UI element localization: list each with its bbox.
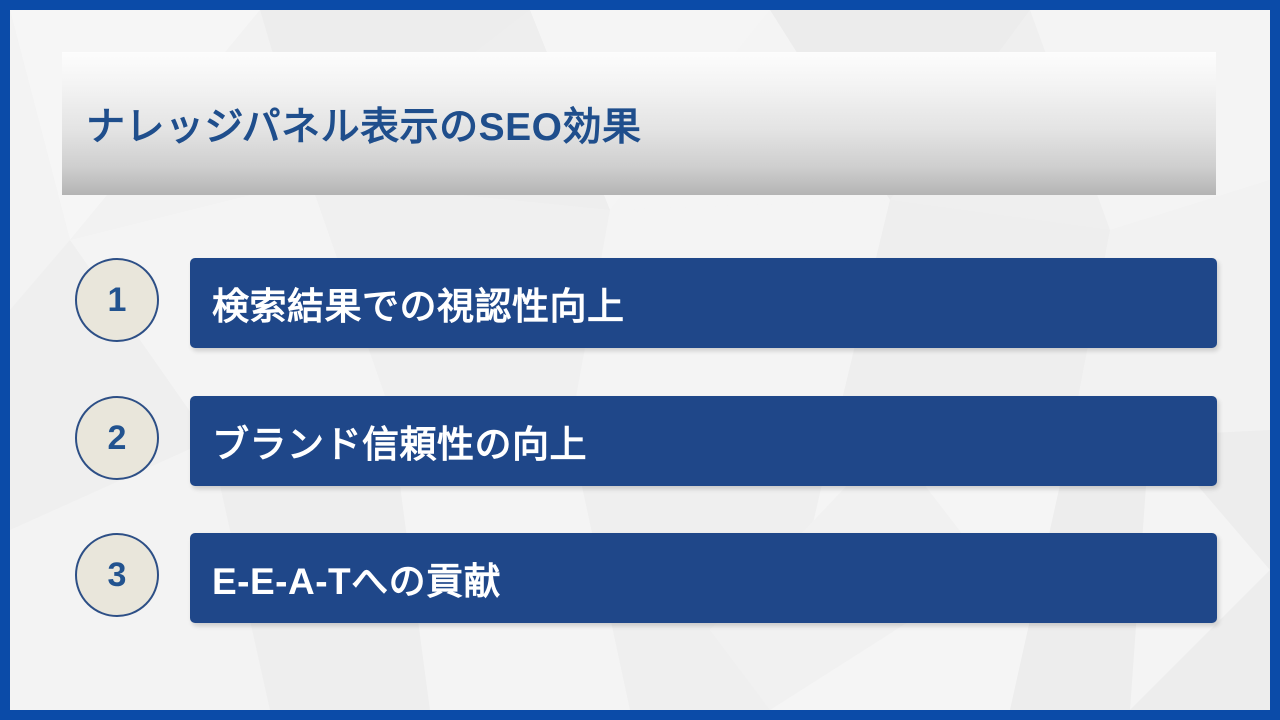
- item-bar-label: 検索結果での視認性向上: [190, 276, 625, 330]
- item-number-badge: 2: [75, 396, 159, 480]
- item-bar-label: ブランド信頼性の向上: [190, 414, 587, 468]
- item-number-badge: 3: [75, 533, 159, 617]
- list-item: 2 ブランド信頼性の向上: [10, 396, 1270, 488]
- list-item: 1 検索結果での視認性向上: [10, 258, 1270, 350]
- page-title: ナレッジパネル表示のSEO効果: [86, 96, 642, 152]
- item-number-badge: 1: [75, 258, 159, 342]
- item-number-label: 1: [108, 283, 127, 317]
- slide-inner-area: ナレッジパネル表示のSEO効果 1 検索結果での視認性向上 2 ブランド信頼性の…: [10, 10, 1270, 710]
- item-number-label: 3: [108, 558, 127, 592]
- item-bar[interactable]: ブランド信頼性の向上: [190, 396, 1217, 486]
- item-number-label: 2: [108, 421, 127, 455]
- item-bar[interactable]: 検索結果での視認性向上: [190, 258, 1217, 348]
- slide-canvas: ナレッジパネル表示のSEO効果 1 検索結果での視認性向上 2 ブランド信頼性の…: [0, 0, 1280, 720]
- slide-title-bar: ナレッジパネル表示のSEO効果: [62, 52, 1216, 195]
- item-bar[interactable]: E-E-A-Tへの貢献: [190, 533, 1217, 623]
- list-item: 3 E-E-A-Tへの貢献: [10, 533, 1270, 625]
- item-bar-label: E-E-A-Tへの貢献: [190, 551, 501, 605]
